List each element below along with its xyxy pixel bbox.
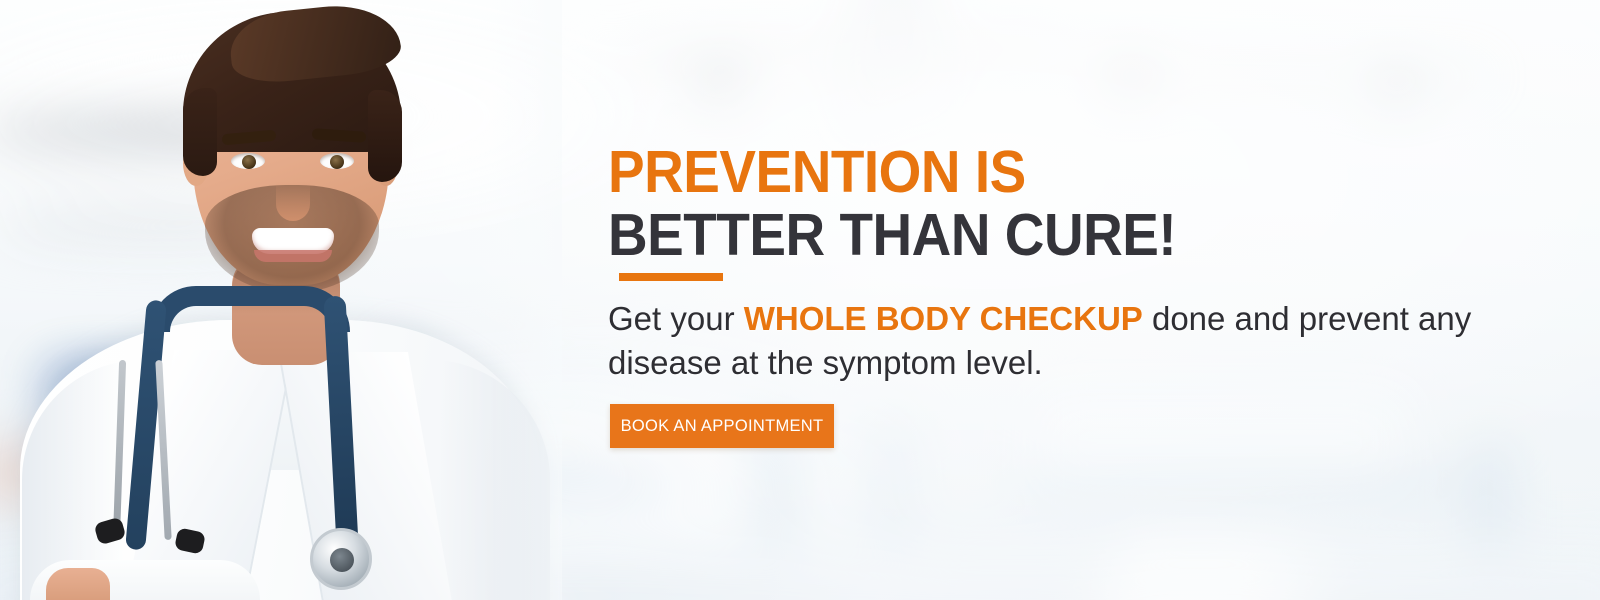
photo-edge-fade	[492, 0, 562, 600]
hair-sideburn-left	[183, 88, 217, 176]
nose	[276, 165, 310, 221]
headline-line-2: BETTER THAN CURE!	[608, 207, 1176, 265]
hero-banner: PREVENTION IS BETTER THAN CURE! Get your…	[0, 0, 1600, 600]
orange-accent-divider	[619, 273, 723, 281]
page-title: PREVENTION IS BETTER THAN CURE!	[608, 144, 1219, 265]
iris-right	[330, 155, 344, 169]
subheading: Get your WHOLE BODY CHECKUP done and pre…	[608, 297, 1508, 385]
stethoscope-neck-loop	[150, 286, 350, 332]
headline-line-1: PREVENTION IS	[608, 144, 1176, 202]
hair-sideburn-right	[368, 90, 402, 182]
stethoscope-chestpiece-center	[330, 548, 354, 572]
subheading-text-before: Get your	[608, 300, 744, 337]
doctor-portrait	[0, 0, 560, 600]
iris-left	[242, 155, 256, 169]
banner-content: PREVENTION IS BETTER THAN CURE! Get your…	[608, 0, 1568, 600]
hand	[46, 568, 110, 600]
subheading-highlight: WHOLE BODY CHECKUP	[744, 300, 1143, 337]
lower-lip	[254, 250, 332, 262]
book-appointment-button[interactable]: BOOK AN APPOINTMENT	[610, 404, 834, 448]
